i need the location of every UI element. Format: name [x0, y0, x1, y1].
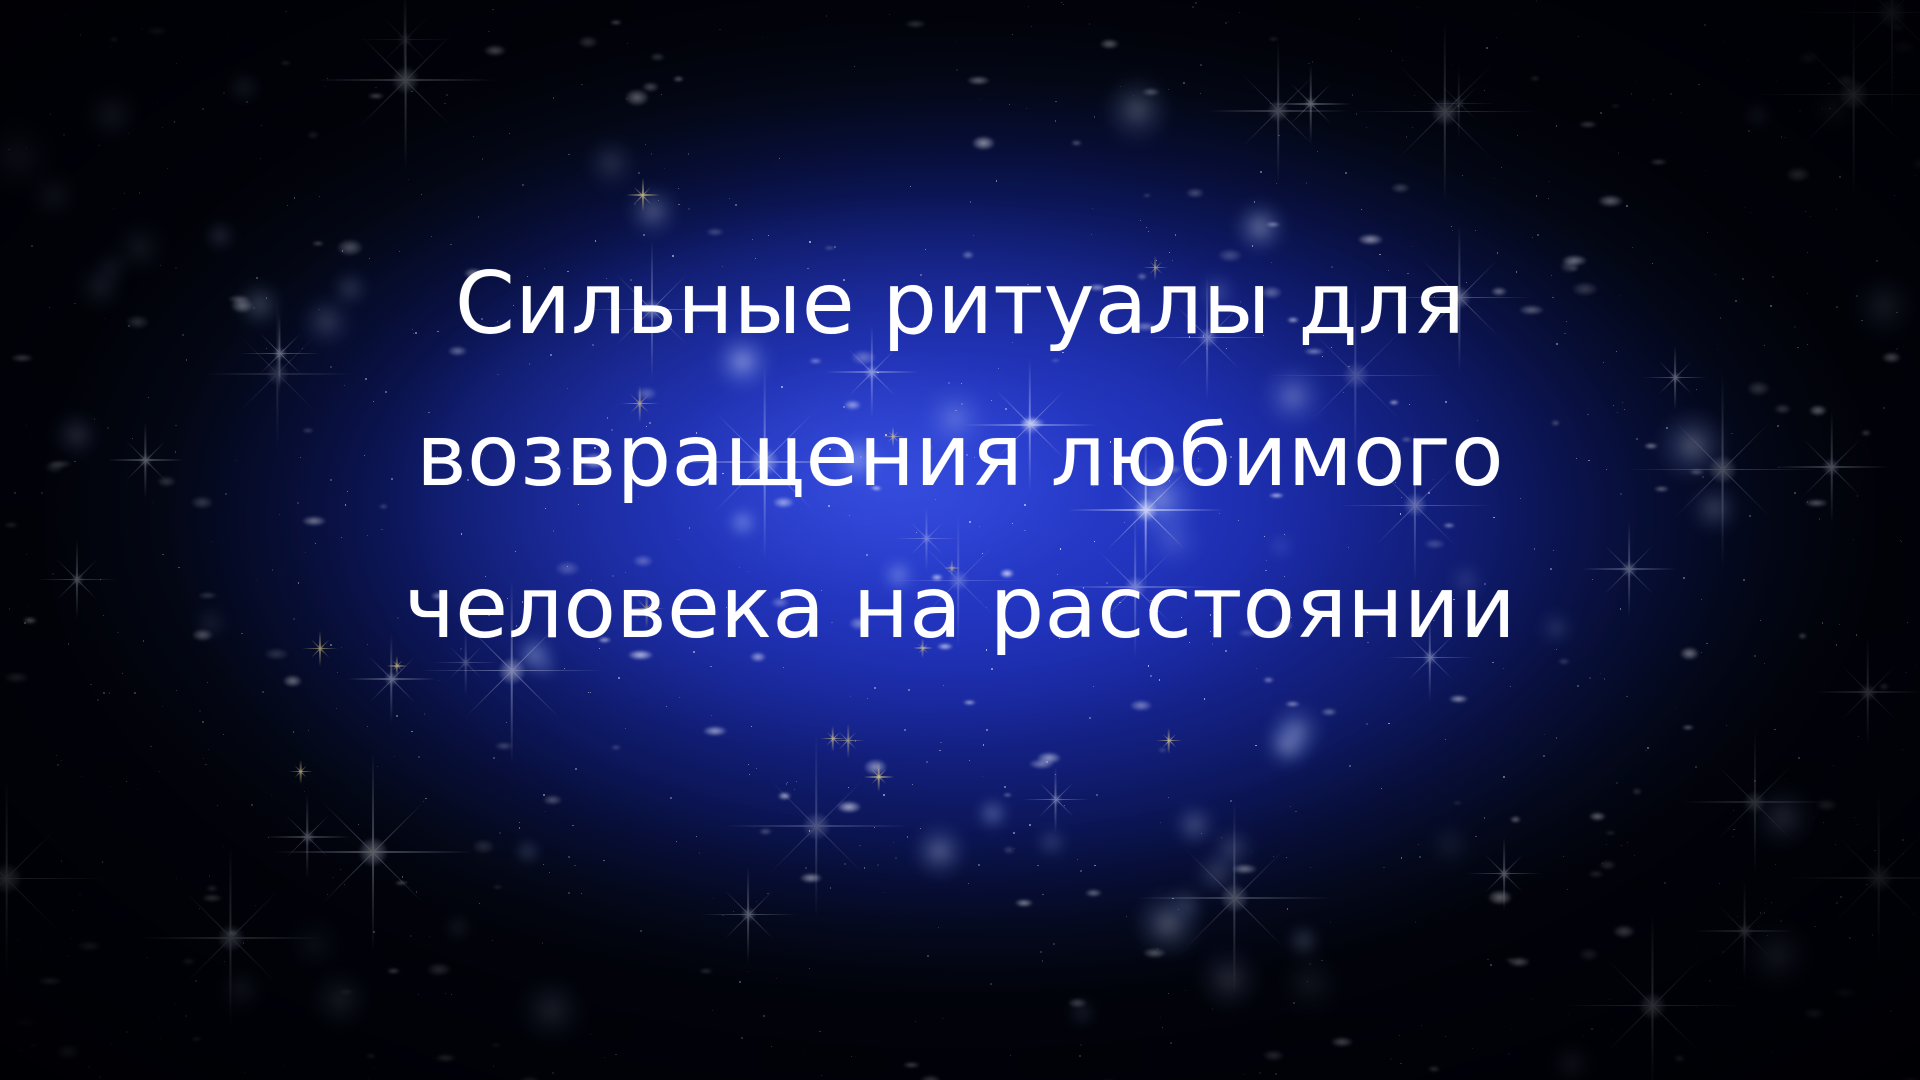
title-line-2: возвращения любимого [0, 380, 1920, 532]
slide-canvas: Сильные ритуалы для возвращения любимого… [0, 0, 1920, 1080]
slide-title: Сильные ритуалы для возвращения любимого… [0, 228, 1920, 684]
title-line-1: Сильные ритуалы для [0, 228, 1920, 380]
title-line-3: человека на расстоянии [0, 532, 1920, 684]
